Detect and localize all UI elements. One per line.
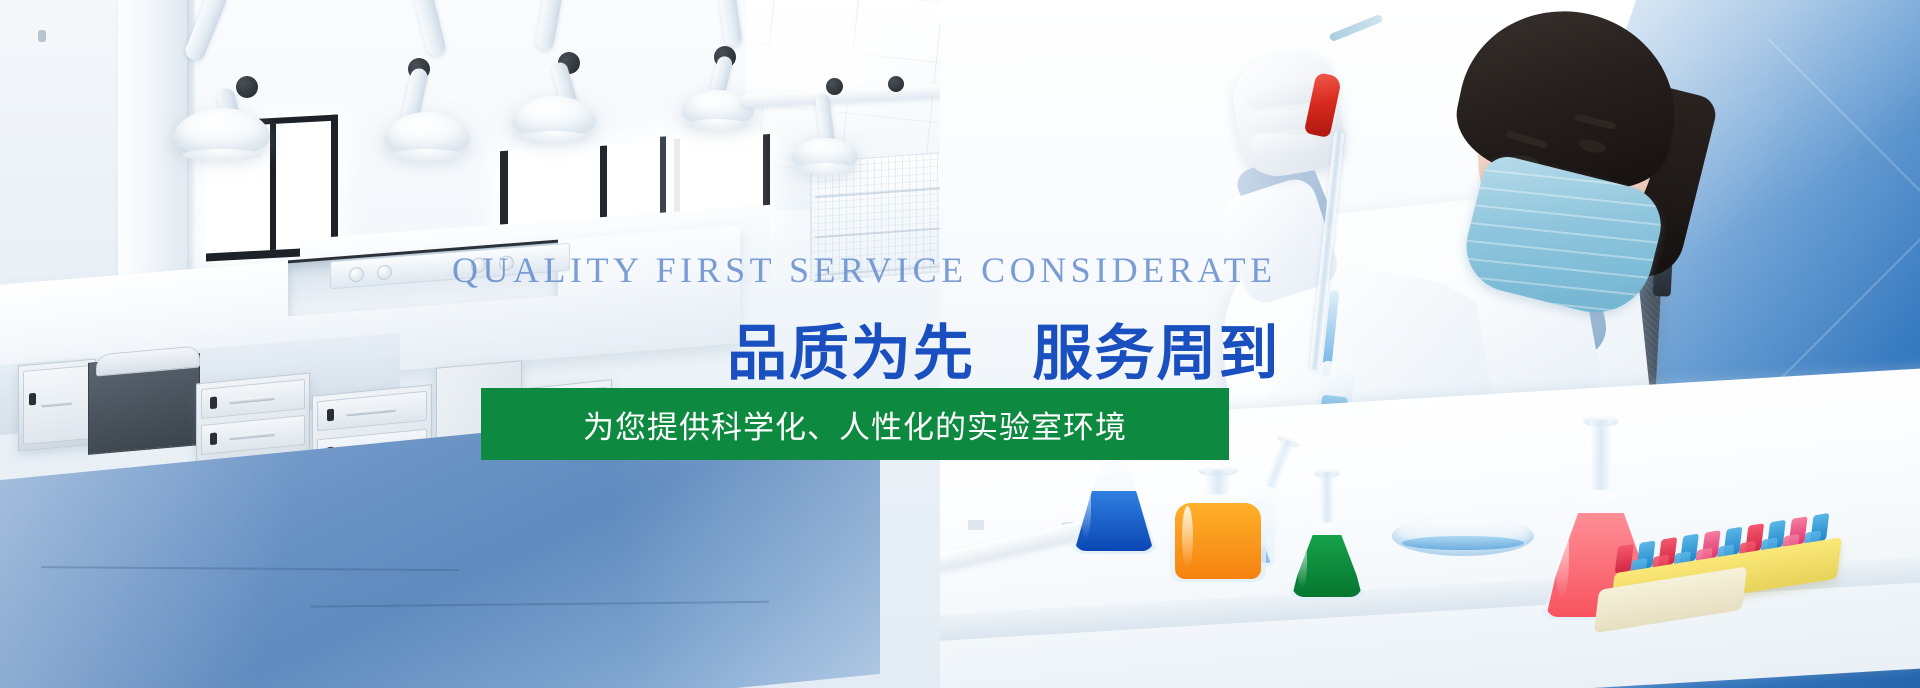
banner-subtitle-bar: 为您提供科学化、人性化的实验室环境 [481, 388, 1229, 460]
headline-part-1: 品质为先 [727, 320, 975, 387]
banner-subtitle-text: 为您提供科学化、人性化的实验室环境 [583, 402, 1127, 447]
banner-chinese-headline: 品质为先 服务周到 [727, 305, 1280, 392]
hero-banner: QUALITY FIRST SERVICE CONSIDERATE 品质为先 服… [0, 0, 1920, 688]
banner-text-overlay: QUALITY FIRST SERVICE CONSIDERATE 品质为先 服… [0, 0, 1920, 688]
banner-english-headline: QUALITY FIRST SERVICE CONSIDERATE [452, 249, 1277, 291]
headline-part-2: 服务周到 [1032, 320, 1280, 387]
